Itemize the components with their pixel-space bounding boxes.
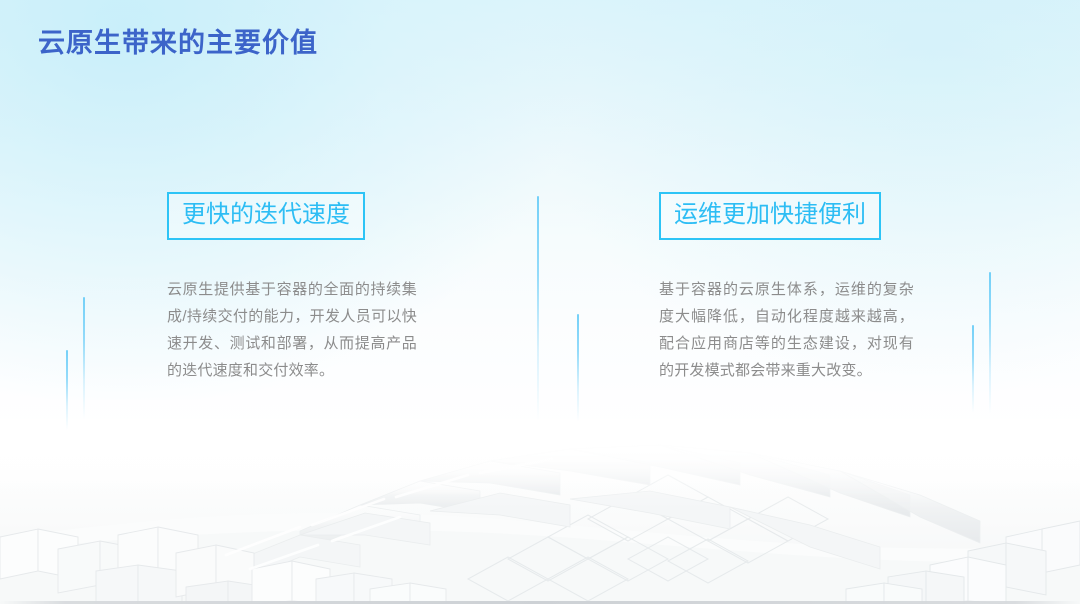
accent-line-mid-outer	[537, 196, 539, 421]
value-body-1: 基于容器的云原生体系，运维的复杂度大幅降低，自动化程度越来越高，配合应用商店等的…	[659, 276, 914, 384]
value-column-1: 运维更加快捷便利 基于容器的云原生体系，运维的复杂度大幅降低，自动化程度越来越高…	[659, 192, 914, 384]
page-title: 云原生带来的主要价值	[38, 21, 318, 60]
value-heading-0: 更快的迭代速度	[167, 192, 365, 240]
terrain-top-fade	[0, 419, 1080, 497]
slide-canvas: 云原生带来的主要价值 更快的迭代速度 云原生提供基于容器的全面的持续集成/持续交…	[0, 0, 1080, 604]
value-column-0: 更快的迭代速度 云原生提供基于容器的全面的持续集成/持续交付的能力，开发人员可以…	[167, 192, 417, 384]
value-body-0: 云原生提供基于容器的全面的持续集成/持续交付的能力，开发人员可以快速开发、测试和…	[167, 276, 417, 384]
accent-line-left-inner	[83, 297, 85, 419]
accent-line-mid-inner	[577, 314, 579, 422]
accent-line-right-outer	[972, 325, 974, 413]
white-3d-block-terrain-graphic	[0, 419, 1080, 604]
accent-line-right-inner	[989, 272, 991, 414]
accent-line-left-outer	[66, 350, 68, 430]
value-heading-1: 运维更加快捷便利	[659, 192, 881, 240]
